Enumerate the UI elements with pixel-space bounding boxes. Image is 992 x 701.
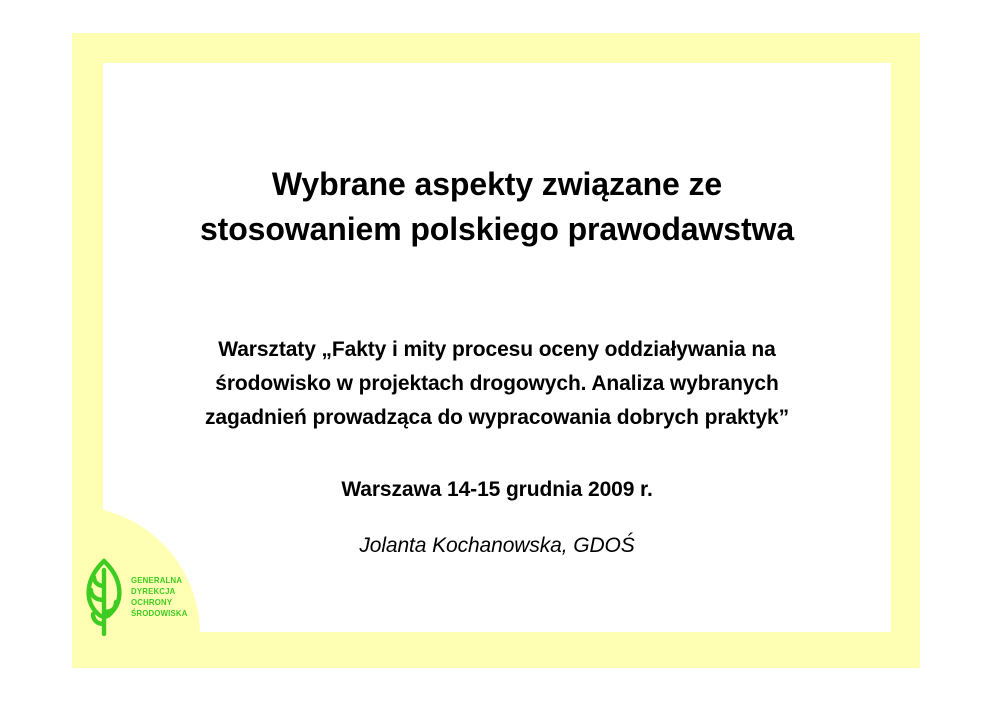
logo-word-line-3: OCHRONY bbox=[131, 597, 188, 608]
frame-band-top bbox=[72, 33, 920, 63]
leaf-icon bbox=[80, 556, 126, 638]
gdos-logo-wordmark: GENERALNA DYREKCJA OCHRONY ŚRODOWISKA bbox=[131, 575, 188, 620]
logo-word-line-2: DYREKCJA bbox=[131, 586, 188, 597]
slide-canvas: Wybrane aspekty związane ze stosowaniem … bbox=[0, 0, 992, 701]
logo-word-line-4: ŚRODOWISKA bbox=[131, 608, 188, 619]
frame-band-right bbox=[891, 33, 920, 668]
gdos-logo: GENERALNA DYREKCJA OCHRONY ŚRODOWISKA bbox=[80, 556, 196, 638]
slide-content-plate bbox=[103, 63, 891, 632]
logo-word-line-1: GENERALNA bbox=[131, 575, 188, 586]
